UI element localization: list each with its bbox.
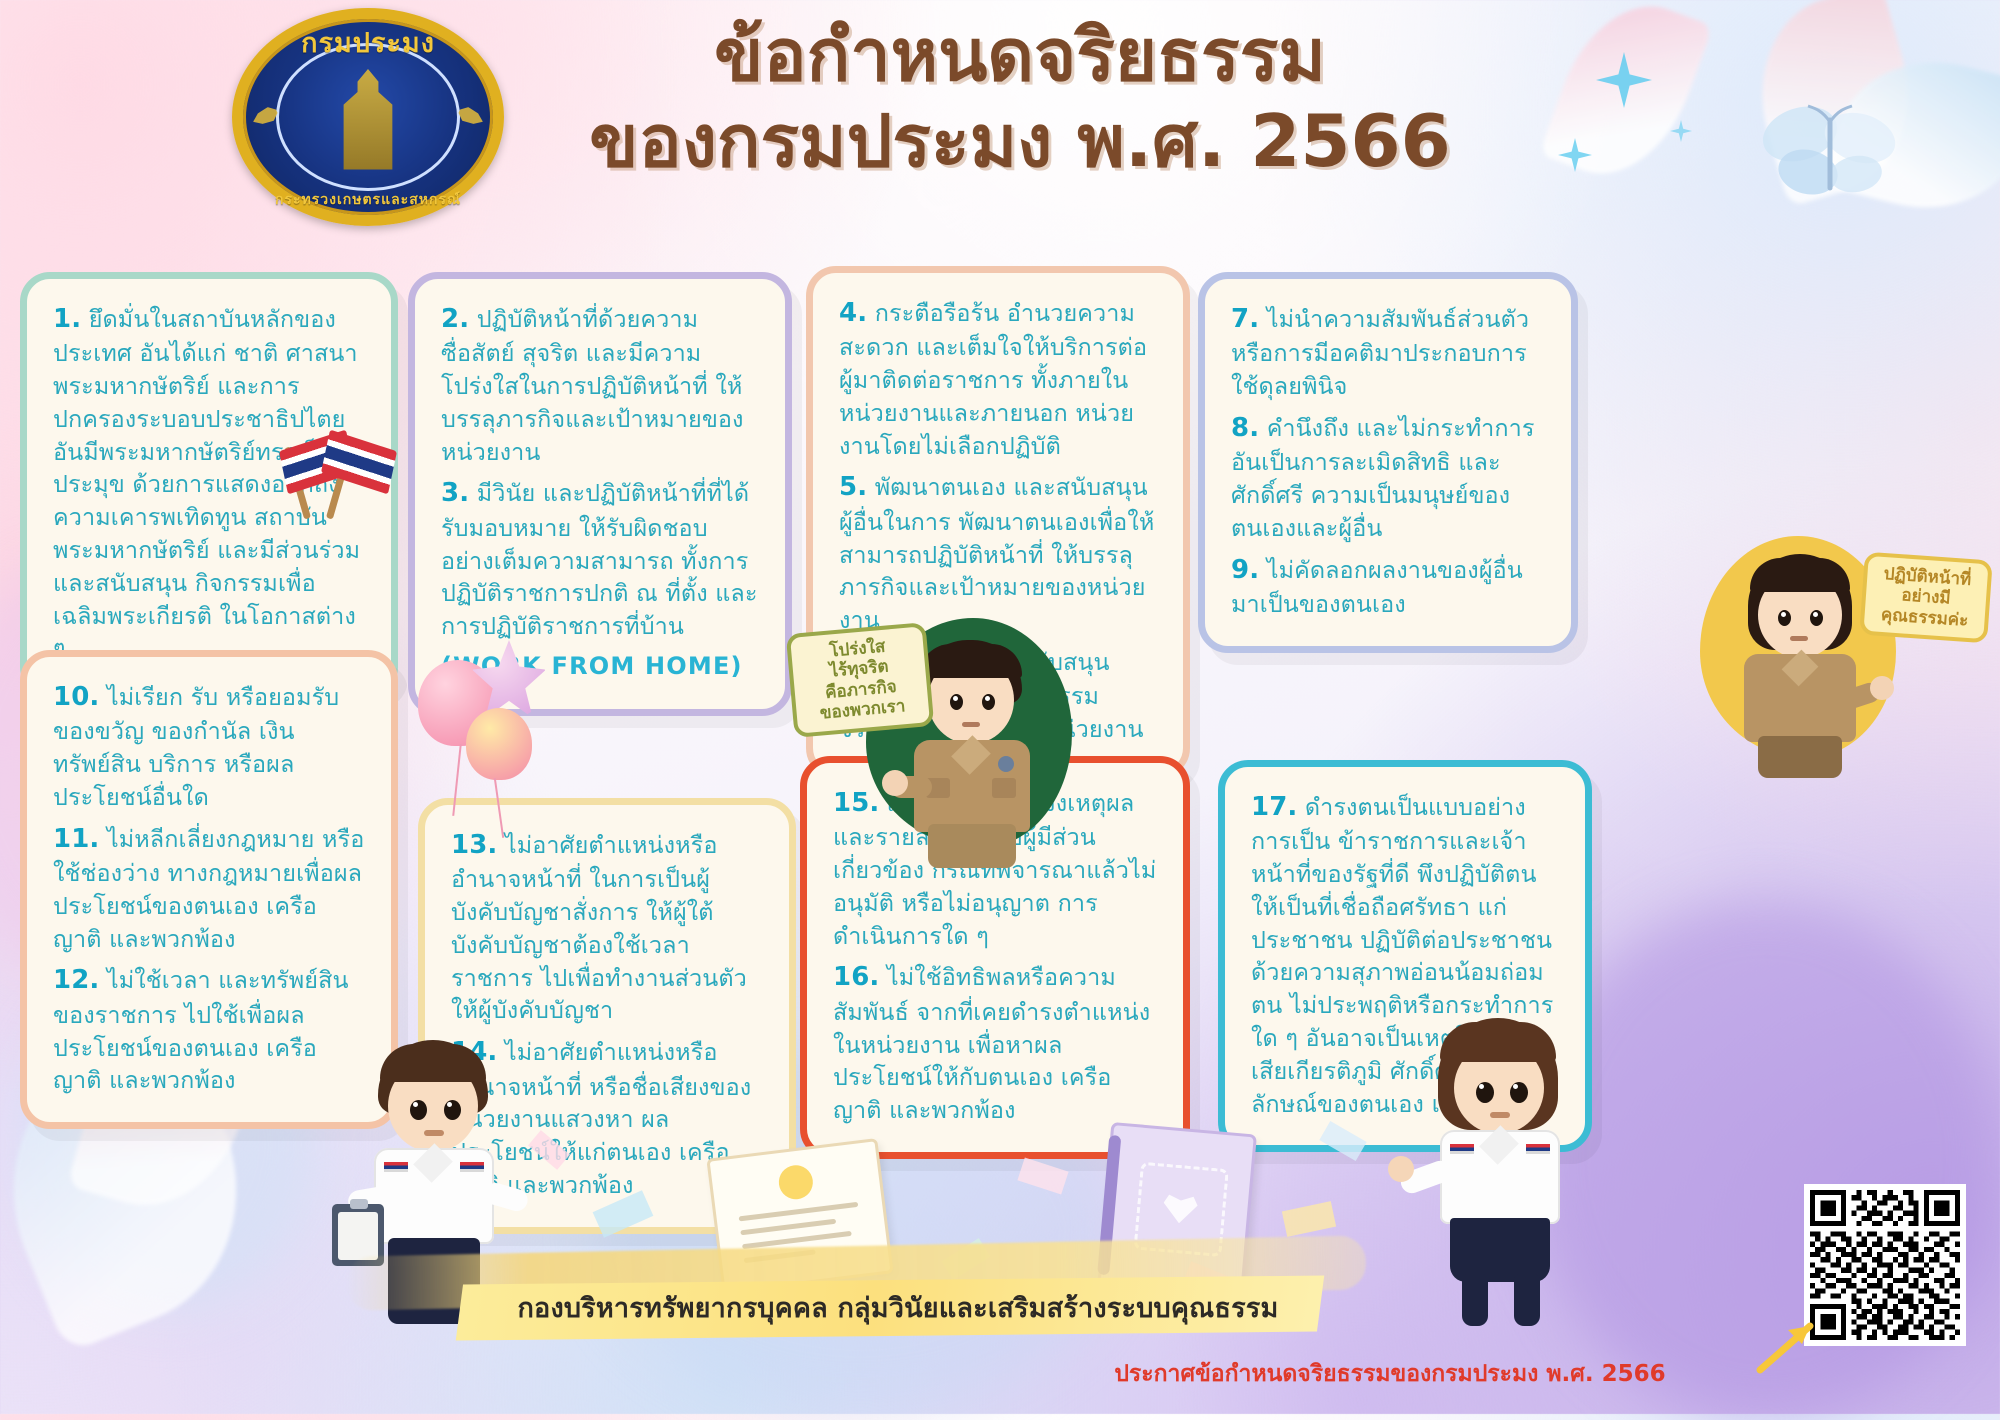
ethics-item-text: ไม่ใช้อิทธิพลหรือความสัมพันธ์ จากที่เคยด… bbox=[833, 963, 1150, 1124]
ethics-item-number: 5. bbox=[839, 472, 867, 502]
page-title-line2: ของกรมประมง พ.ศ. 2566 bbox=[520, 100, 1520, 182]
ethics-item: 16. ไม่ใช้อิทธิพลหรือความสัมพันธ์ จากที่… bbox=[833, 959, 1157, 1126]
ethics-item-text: ไม่อาศัยตำแหน่งหรืออำนาจหน้าที่ หรือชื่อ… bbox=[451, 1038, 751, 1199]
confetti bbox=[1282, 1201, 1336, 1237]
feather-icon bbox=[1737, 0, 1934, 207]
ethics-item: 17. ดำรงตนเป็นแบบอย่างการเป็น ข้าราชการแ… bbox=[1251, 789, 1559, 1120]
ethics-item: 2. ปฏิบัติหน้าที่ด้วยความซื่อสัตย์ สุจริ… bbox=[441, 301, 759, 468]
ethics-item: 9. ไม่คัดลอกผลงานของผู้อื่น มาเป็นของตนเ… bbox=[1231, 552, 1545, 621]
footer-note-text: ประกาศข้อกำหนดจริยธรรมของกรมประมง พ.ศ. 2… bbox=[1080, 1356, 1700, 1392]
page-title-line1: ข้อกำหนดจริยธรรม bbox=[520, 14, 1520, 96]
page-title: ข้อกำหนดจริยธรรม ของกรมประมง พ.ศ. 2566 bbox=[520, 14, 1520, 182]
qr-code[interactable] bbox=[1804, 1184, 1966, 1346]
ethics-card-4: 7. ไม่นำความสัมพันธ์ส่วนตัว หรือการมีอคต… bbox=[1198, 272, 1578, 653]
ethics-item-text: ไม่คัดลอกผลงานของผู้อื่น มาเป็นของตนเอง bbox=[1231, 556, 1523, 618]
ethics-item-text: ไม่หลีกเลี่ยงกฎหมาย หรือใช้ช่องว่าง ทางก… bbox=[53, 825, 364, 953]
confetti bbox=[1017, 1157, 1068, 1194]
ethics-item: 12. ไม่ใช้เวลา และทรัพย์สินของราชการ ไปใ… bbox=[53, 962, 365, 1097]
ethics-item-number: 13. bbox=[451, 830, 497, 860]
ethics-item-number: 2. bbox=[441, 304, 469, 334]
ethics-item-number: 1. bbox=[53, 304, 81, 334]
department-of-fisheries-seal: กรมประมง กระทรวงเกษตรและสหกรณ์ bbox=[232, 8, 504, 226]
ethics-item-number: 15. bbox=[833, 788, 879, 818]
seal-top-text: กรมประมง bbox=[232, 21, 504, 64]
ethics-item: 13. ไม่อาศัยตำแหน่งหรืออำนาจหน้าที่ ในกา… bbox=[451, 827, 763, 1027]
ethics-item-number: 12. bbox=[53, 965, 99, 995]
ethics-item-text: คำนึงถึง และไม่กระทำการ อันเป็นการละเมิด… bbox=[1231, 414, 1535, 542]
ethics-card-5: 10. ไม่เรียก รับ หรือยอมรับ ของขวัญ ของก… bbox=[20, 650, 398, 1129]
ethics-item: 7. ไม่นำความสัมพันธ์ส่วนตัว หรือการมีอคต… bbox=[1231, 301, 1545, 403]
ethics-item: 3. มีวินัย และปฏิบัติหน้าที่ที่ได้รับมอบ… bbox=[441, 475, 759, 642]
female-officer-speech-bubble: ปฏิบัติหน้าที่ อย่างมี คุณธรรมค่ะ bbox=[1859, 552, 1992, 644]
ethics-item: 5. พัฒนาตนเอง และสนับสนุนผู้อื่นในการ พั… bbox=[839, 469, 1157, 636]
ethics-item-number: 3. bbox=[441, 478, 469, 508]
ethics-item-number: 17. bbox=[1251, 792, 1297, 822]
arrow-icon bbox=[1752, 1318, 1822, 1378]
ethics-card-8: 17. ดำรงตนเป็นแบบอย่างการเป็น ข้าราชการแ… bbox=[1218, 760, 1592, 1152]
ethics-item-number: 4. bbox=[839, 298, 867, 328]
ethics-item-number: 10. bbox=[53, 682, 99, 712]
ethics-item-number: 14. bbox=[451, 1037, 497, 1067]
ethics-item-text: ปฏิบัติหน้าที่ด้วยความซื่อสัตย์ สุจริต แ… bbox=[441, 305, 744, 466]
footer-banner-text: กองบริหารทรัพยากรบุคคล กลุ่มวินัยและเสริ… bbox=[478, 1286, 1318, 1329]
ethics-item-text: มีวินัย และปฏิบัติหน้าที่ที่ได้รับมอบหมา… bbox=[441, 479, 758, 640]
butterfly-icon bbox=[1756, 104, 1906, 200]
sparkle-icon bbox=[1558, 138, 1592, 172]
ethics-item: 11. ไม่หลีกเลี่ยงกฎหมาย หรือใช้ช่องว่าง … bbox=[53, 821, 365, 956]
ethics-item-number: 11. bbox=[53, 824, 99, 854]
ethics-item-text: พัฒนาตนเอง และสนับสนุนผู้อื่นในการ พัฒนา… bbox=[839, 473, 1154, 634]
ethics-item-number: 7. bbox=[1231, 304, 1259, 334]
ethics-item-text: ไม่อาศัยตำแหน่งหรืออำนาจหน้าที่ ในการเป็… bbox=[451, 831, 747, 1024]
thai-flag-icon bbox=[278, 438, 398, 512]
feather-icon bbox=[1539, 0, 1713, 195]
ethics-item-number: 8. bbox=[1231, 413, 1259, 443]
ethics-item: 10. ไม่เรียก รับ หรือยอมรับ ของขวัญ ของก… bbox=[53, 679, 365, 814]
sparkle-icon bbox=[1596, 52, 1652, 108]
sparkle-icon bbox=[1670, 120, 1692, 142]
ethics-item-text: ดำรงตนเป็นแบบอย่างการเป็น ข้าราชการและเจ… bbox=[1251, 793, 1556, 1118]
seal-bottom-text: กระทรวงเกษตรและสหกรณ์ bbox=[232, 189, 504, 211]
ethics-item-text: กระตือรือร้น อำนวยความสะดวก และเต็มใจให้… bbox=[839, 299, 1147, 460]
male-officer-speech-bubble: โปร่งใส ไร้ทุจริต คือภารกิจ ของพวกเรา bbox=[786, 622, 934, 737]
ethics-item-number: 9. bbox=[1231, 555, 1259, 585]
ethics-item: 8. คำนึงถึง และไม่กระทำการ อันเป็นการละเ… bbox=[1231, 410, 1545, 545]
feather-icon bbox=[1825, 40, 2000, 229]
ethics-item-text: ไม่นำความสัมพันธ์ส่วนตัว หรือการมีอคติมา… bbox=[1231, 305, 1529, 400]
ethics-card-2: 2. ปฏิบัติหน้าที่ด้วยความซื่อสัตย์ สุจริ… bbox=[408, 272, 792, 716]
ethics-item-number: 16. bbox=[833, 962, 879, 992]
ethics-item: 4. กระตือรือร้น อำนวยความสะดวก และเต็มใจ… bbox=[839, 295, 1157, 462]
